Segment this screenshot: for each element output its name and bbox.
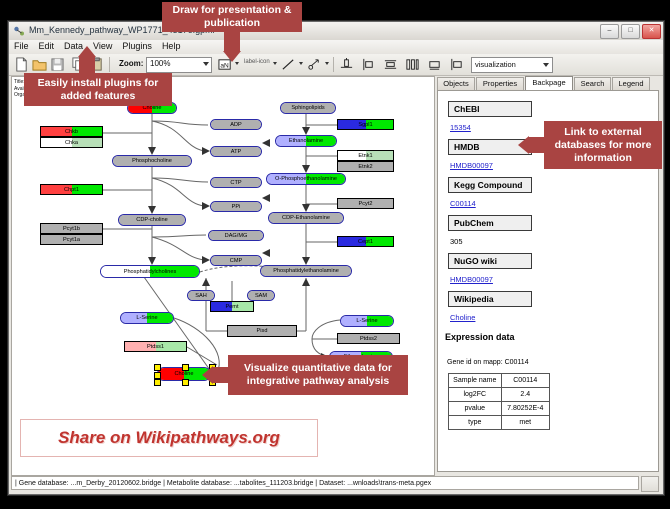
node-label: Phosphocholine: [132, 158, 172, 164]
metabolite-node[interactable]: O-Phosphoethanolamine: [266, 173, 346, 185]
selection-handle[interactable]: [182, 364, 189, 371]
metabolite-node[interactable]: CMP: [210, 255, 262, 266]
node-label: DAG/MG: [225, 233, 248, 239]
node-label: Choline: [175, 371, 194, 377]
node-label: CDP-Ethanolamine: [282, 215, 330, 221]
chevron-down-icon: [543, 63, 549, 67]
pathway-canvas[interactable]: Title: Availa Organ: [11, 76, 435, 476]
node-label: PPi: [232, 204, 241, 210]
gene-node[interactable]: Pcyt2: [337, 198, 394, 209]
metabolite-node[interactable]: Phosphatidylethanolamine: [260, 265, 352, 277]
gene-node[interactable]: Etnk2: [337, 161, 394, 172]
tab-legend[interactable]: Legend: [612, 77, 650, 90]
node-label: Sgpl1: [358, 122, 372, 128]
title-bar: Mm_Kennedy_pathway_WP1771_45176.gpml – □…: [9, 22, 663, 41]
node-label: Phosphatidylethanolamine: [273, 268, 339, 274]
node-label: Ptdss2: [360, 336, 377, 342]
table-row: Sample name C00114: [449, 374, 550, 388]
expression-table: Sample name C00114 log2FC 2.4 pvalue 7.8…: [448, 373, 550, 430]
bring-front-icon[interactable]: [449, 57, 464, 72]
chevron-down-icon[interactable]: [273, 62, 277, 65]
expression-data-heading: Expression data: [445, 332, 515, 342]
distribute-icon[interactable]: [405, 57, 420, 72]
chevron-down-icon[interactable]: [299, 62, 303, 65]
tab-objects[interactable]: Objects: [437, 77, 475, 90]
window-buttons: – □ ✕: [600, 24, 661, 39]
cell-type-label: type: [449, 416, 502, 430]
size-icon[interactable]: [427, 57, 442, 72]
callout-plugins-stem: [79, 56, 95, 74]
selection-handle[interactable]: [154, 372, 161, 379]
callout-plugins: Easily install plugins for added feature…: [24, 73, 172, 106]
db-link-nugo-wiki[interactable]: HMDB00097: [450, 275, 493, 284]
gene-node[interactable]: Cept1: [337, 236, 394, 247]
db-link-wikipedia[interactable]: Choline: [450, 313, 475, 322]
metabolite-node[interactable]: PPi: [210, 201, 262, 212]
gene-node[interactable]: Pemt: [210, 301, 254, 312]
node-label: Pisd: [257, 328, 268, 334]
menu-bar: File Edit Data View Plugins Help: [9, 40, 663, 55]
status-bar-wrapper: | Gene database: ...m_Derby_20120602.bri…: [11, 476, 659, 491]
zoom-combobox[interactable]: 100%: [146, 57, 212, 73]
callout-plugins-arrow: [78, 46, 96, 57]
metabolite-node[interactable]: ADP: [210, 119, 262, 130]
menu-item-plugins[interactable]: Plugins: [117, 40, 157, 52]
svg-text:aN: aN: [220, 62, 229, 69]
node-label: Ethanolamine: [289, 138, 323, 144]
db-header-pubchem: PubChem: [448, 215, 532, 231]
callout-visualize: Visualize quantitative data for integrat…: [228, 355, 408, 395]
gene-node[interactable]: Chpt1: [40, 184, 103, 195]
resize-grip-icon[interactable]: [641, 476, 659, 492]
toolbar-separator: [109, 57, 110, 72]
node-label: CMP: [230, 258, 242, 264]
metabolite-node[interactable]: Phosphocholine: [112, 155, 192, 167]
metabolite-node[interactable]: L-Serine: [120, 312, 174, 324]
side-panel-tabs: Objects Properties Backpage Search Legen…: [435, 76, 661, 90]
close-button[interactable]: ✕: [642, 24, 661, 39]
maximize-button[interactable]: □: [621, 24, 640, 39]
node-label: Phosphatidylcholines: [124, 269, 177, 275]
gene-node[interactable]: Etnk1: [337, 150, 394, 161]
visualization-combobox[interactable]: visualization: [471, 57, 553, 73]
db-header-kegg-compound: Kegg Compound: [448, 177, 532, 193]
save-icon[interactable]: [50, 57, 65, 72]
node-label: L-Serine: [356, 318, 377, 324]
gene-node[interactable]: Pcyt1a: [40, 234, 103, 245]
cell-log2fc-label: log2FC: [449, 388, 502, 402]
callout-publication: Draw for presentation & publication: [162, 2, 302, 32]
align-left-icon[interactable]: [361, 57, 376, 72]
gene-node[interactable]: Ptdss2: [337, 333, 400, 344]
db-link-chebi[interactable]: 15354: [450, 123, 471, 132]
zoom-value: 100%: [150, 59, 170, 68]
node-label: SAH: [195, 293, 207, 299]
gene-node[interactable]: Chka: [40, 137, 103, 148]
open-folder-icon[interactable]: [32, 57, 47, 72]
callout-publication-stem: [224, 32, 240, 52]
metabolite-node[interactable]: Ethanolamine: [275, 135, 337, 147]
chevron-down-icon: [203, 62, 209, 66]
callout-share-text: Share on Wikipathways.org: [58, 428, 280, 448]
node-label: CDP-choline: [136, 217, 167, 223]
menu-item-edit[interactable]: Edit: [34, 40, 60, 52]
metabolite-node[interactable]: SAM: [247, 290, 275, 301]
gene-node[interactable]: Pisd: [227, 325, 297, 337]
metabolite-node[interactable]: L-Serine: [340, 315, 394, 327]
node-label: Cept1: [358, 239, 373, 245]
node-label: ATP: [231, 149, 241, 155]
stack-icon[interactable]: [383, 57, 398, 72]
selection-handle[interactable]: [182, 379, 189, 386]
db-value-pubchem: 305: [450, 237, 463, 246]
cell-pvalue-label: pvalue: [449, 402, 502, 416]
node-label: Pcyt2: [359, 201, 373, 207]
db-link-kegg-compound[interactable]: C00114: [450, 199, 476, 208]
node-label: Pcyt1a: [63, 237, 80, 243]
table-row: pvalue 7.80252E-4: [449, 402, 550, 416]
minimize-button[interactable]: –: [600, 24, 619, 39]
selection-handle[interactable]: [154, 364, 161, 371]
tab-properties[interactable]: Properties: [476, 77, 524, 90]
gene-id-on-mapp: Gene id on mapp: C00114: [447, 359, 529, 366]
db-header-wikipedia: Wikipedia: [448, 291, 532, 307]
line-icon[interactable]: [281, 57, 296, 72]
chevron-down-icon[interactable]: [235, 62, 239, 65]
node-label: Etnk1: [358, 153, 372, 159]
node-label: CTP: [230, 180, 241, 186]
cell-sample-name-label: Sample name: [449, 374, 502, 388]
menu-item-file[interactable]: File: [9, 40, 34, 52]
node-label: Pcyt1b: [63, 226, 80, 232]
status-bar: | Gene database: ...m_Derby_20120602.bri…: [11, 476, 639, 490]
callout-external-links-arrow: [518, 136, 529, 154]
node-label: Chka: [65, 140, 78, 146]
cell-sample-name-value: C00114: [501, 374, 549, 388]
gene-node[interactable]: Chkb: [40, 126, 103, 137]
table-row: log2FC 2.4: [449, 388, 550, 402]
metabolite-node[interactable]: DAG/MG: [208, 230, 264, 241]
node-label: L-Serine: [136, 315, 157, 321]
metabolite-node[interactable]: CDP-choline: [118, 214, 186, 226]
node-label: Chkb: [65, 129, 78, 135]
table-row: type met: [449, 416, 550, 430]
callout-external-links: Link to external databases for more info…: [544, 121, 662, 169]
gene-node[interactable]: Ptdss1: [124, 341, 187, 352]
chevron-down-icon[interactable]: [325, 62, 329, 65]
align-top-icon[interactable]: [339, 57, 354, 72]
anchor-icon[interactable]: [307, 57, 322, 72]
db-header-chebi: ChEBI: [448, 101, 532, 117]
cell-log2fc-value: 2.4: [501, 388, 549, 402]
node-label: ADP: [230, 122, 242, 128]
zoom-label: Zoom:: [119, 59, 143, 68]
node-label: Chpt1: [64, 187, 79, 193]
callout-visualize-arrow: [202, 366, 213, 384]
metabolite-node[interactable]: CDP-Ethanolamine: [268, 212, 344, 224]
pathvisio-icon: [13, 25, 25, 37]
label-tool-label[interactable]: label-icon: [244, 59, 270, 65]
visualization-value: visualization: [475, 60, 516, 69]
db-header-nugo-wiki: NuGO wiki: [448, 253, 532, 269]
tab-search[interactable]: Search: [574, 77, 611, 90]
menu-item-help[interactable]: Help: [157, 40, 186, 52]
cell-type-value: met: [501, 416, 549, 430]
cell-pvalue-value: 7.80252E-4: [501, 402, 549, 416]
gene-node[interactable]: Sgpl1: [337, 119, 394, 130]
db-link-hmdb[interactable]: HMDB00097: [450, 161, 493, 170]
callout-share: Share on Wikipathways.org: [20, 419, 318, 457]
node-label: Sphingolipids: [291, 105, 324, 111]
new-document-icon[interactable]: [14, 57, 29, 72]
node-label: Etnk2: [358, 164, 372, 170]
toolbar-separator: [333, 57, 334, 72]
metabolite-node[interactable]: ATP: [210, 146, 262, 157]
node-label: O-Phosphoethanolamine: [275, 176, 337, 182]
tab-backpage[interactable]: Backpage: [525, 76, 573, 90]
gene-node[interactable]: Pcyt1b: [40, 223, 103, 234]
node-label: Ptdss1: [147, 344, 164, 350]
metabolite-node[interactable]: Phosphatidylcholines: [100, 265, 200, 278]
metabolite-node[interactable]: Sphingolipids: [280, 102, 336, 114]
metabolite-node[interactable]: SAH: [187, 290, 215, 301]
screenshot-root: Mm_Kennedy_pathway_WP1771_45176.gpml – □…: [0, 0, 670, 509]
callout-publication-arrow: [223, 51, 241, 62]
selection-handle[interactable]: [154, 379, 161, 386]
node-label: SAM: [255, 293, 267, 299]
metabolite-node[interactable]: CTP: [210, 177, 262, 188]
node-label: Pemt: [225, 304, 238, 310]
